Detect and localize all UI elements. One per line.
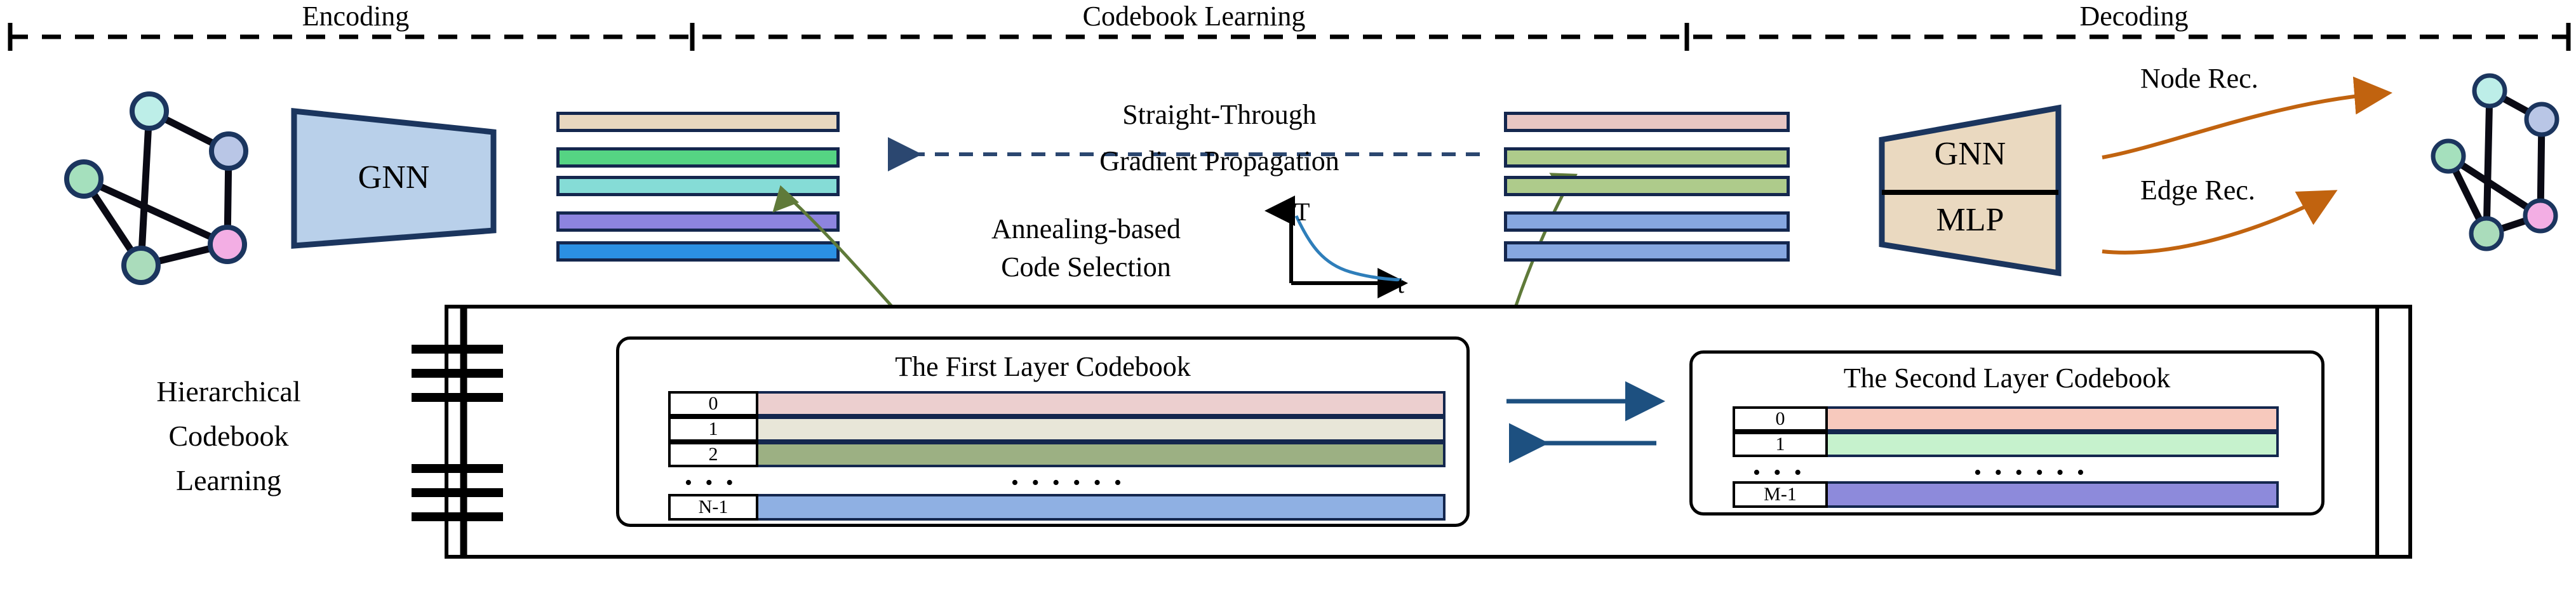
decoder-mlp-label: MLP [1877, 201, 2063, 239]
straight-through-label-line2: Gradient Propagation [1016, 145, 1423, 177]
graph-node [2474, 76, 2505, 106]
input-graph [25, 83, 260, 292]
graph-node [2525, 201, 2556, 231]
codebook-row-vector [758, 494, 1446, 521]
graph-node [2471, 218, 2502, 249]
codebook-exchange-arrows [1493, 375, 1696, 463]
graph-node [2526, 104, 2557, 135]
codebook-row-index: 1 [668, 416, 758, 442]
phase-label-encoding: Encoding [210, 0, 502, 32]
codebook-index-ellipsis: • • • [1753, 462, 1806, 484]
hierarchical-label-line3: Learning [108, 463, 349, 498]
graph-node [67, 162, 101, 196]
codebook-row-index: M-1 [1733, 481, 1828, 508]
codebook-vector-ellipsis: • • • • • • [1974, 462, 2088, 484]
second-layer-codebook-rows: 0 1 • • • • • • • • • M-1 [1733, 406, 2279, 508]
phase-label-decoding: Decoding [1969, 0, 2299, 32]
embedding-bar [556, 211, 840, 232]
decoder-gnn-label: GNN [1877, 135, 2063, 173]
codebook-row-vector [758, 391, 1446, 416]
quantized-bar [1504, 176, 1790, 196]
quantized-embedding-bars [1504, 112, 1790, 258]
codebook-row-index: 1 [1733, 432, 1828, 457]
codebook-index-ellipsis: • • • [685, 472, 737, 494]
graph-node [211, 134, 246, 168]
figure-canvas: Encoding Codebook Learning Decoding GNN [0, 0, 2576, 612]
codebook-row-index: 2 [668, 442, 758, 467]
hierarchical-label-line2: Codebook [108, 419, 349, 453]
quantized-bar [1504, 241, 1790, 262]
codebook-row-vector [758, 442, 1446, 467]
encoder-embedding-bars [556, 112, 840, 258]
codebook-row-index: 0 [668, 391, 758, 416]
embedding-bar [556, 176, 840, 196]
graph-node [124, 248, 158, 283]
codebook-row-vector [1828, 432, 2279, 457]
embedding-bar [556, 112, 840, 132]
embedding-bar [556, 241, 840, 262]
quantized-bar [1504, 211, 1790, 232]
encoder-gnn-label: GNN [289, 159, 499, 196]
codebook-row-vector [1828, 481, 2279, 508]
node-rec-label: Node Rec. [2140, 62, 2258, 95]
straight-through-label-line1: Straight-Through [1016, 98, 1423, 131]
embedding-bar [556, 147, 840, 168]
codebook-stack-icon [394, 305, 508, 559]
edge-rec-label: Edge Rec. [2140, 174, 2255, 206]
codebook-row-vector [1828, 406, 2279, 432]
reconstructed-graph [2420, 75, 2576, 278]
second-layer-codebook-title: The Second Layer Codebook [1689, 362, 2324, 394]
graph-node [2433, 141, 2464, 171]
phase-label-codebook-learning: Codebook Learning [997, 0, 1391, 32]
first-layer-codebook-rows: 0 1 2 • • • • • • • • • N-1 [668, 391, 1446, 518]
codebook-row-index: N-1 [668, 494, 758, 521]
hierarchical-label-line1: Hierarchical [108, 375, 349, 409]
graph-node [210, 227, 245, 262]
hierarchical-codebook-panel-inner-edge [2375, 305, 2412, 559]
quantized-bar [1504, 147, 1790, 168]
graph-node [132, 94, 166, 128]
quantized-bar [1504, 112, 1790, 132]
codebook-row-vector [758, 416, 1446, 442]
codebook-row-index: 0 [1733, 406, 1828, 432]
codebook-vector-ellipsis: • • • • • • [1011, 472, 1125, 494]
first-layer-codebook-title: The First Layer Codebook [616, 350, 1470, 383]
